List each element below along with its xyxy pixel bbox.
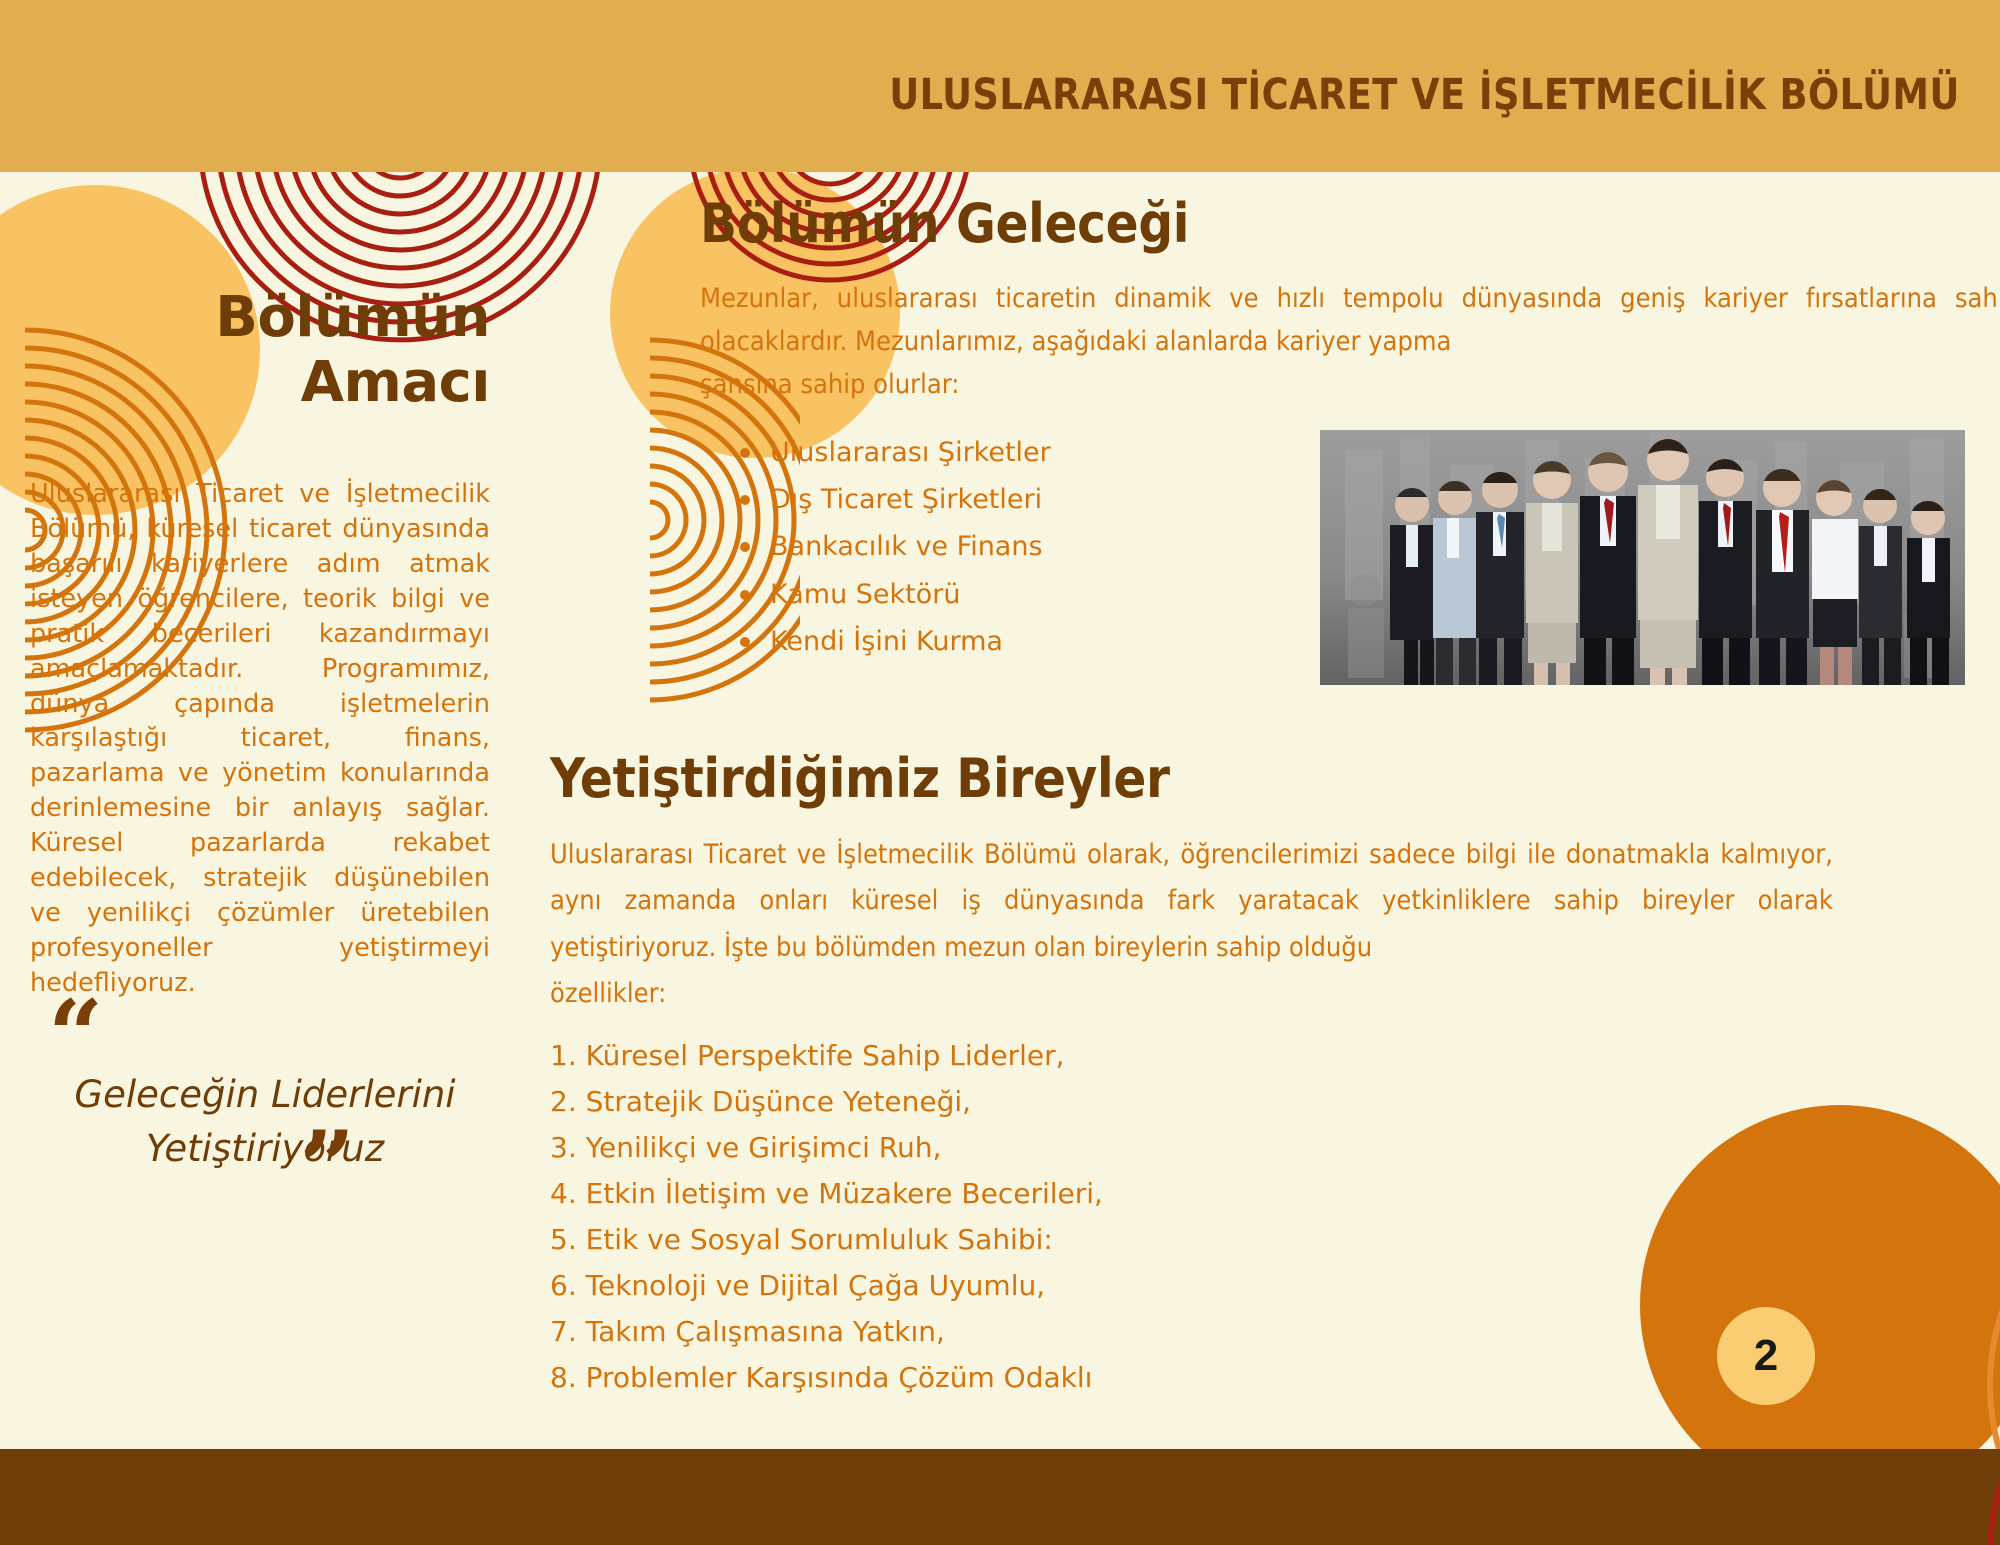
list-item: 8. Problemler Karşısında Çözüm Odaklı — [550, 1364, 1103, 1392]
header-bar: ULUSLARARASI TİCARET VE İŞLETMECİLİK BÖL… — [0, 0, 2000, 172]
page-title: ULUSLARARASI TİCARET VE İŞLETMECİLİK BÖL… — [890, 70, 1960, 120]
section-heading-purpose: Bölümün Amacı — [30, 285, 490, 415]
right-column: Bölümün Geleceği Mezunlar, uluslararası … — [700, 192, 2000, 672]
section-heading-future: Bölümün Geleceği — [700, 192, 2000, 255]
individuals-body-text: Uluslararası Ticaret ve İşletmecilik Böl… — [550, 832, 1833, 1018]
list-item: 6. Teknoloji ve Dijital Çağa Uyumlu, — [550, 1272, 1103, 1300]
list-item: 7. Takım Çalışmasına Yatkın, — [550, 1318, 1103, 1346]
list-item: 2. Stratejik Düşünce Yeteneği, — [550, 1088, 1103, 1116]
business-team-photo — [1320, 430, 1965, 685]
traits-list: 1. Küresel Perspektife Sahip Liderler, 2… — [550, 1042, 1103, 1410]
individuals-body-main: Uluslararası Ticaret ve İşletmecilik Böl… — [550, 839, 1833, 963]
left-column: Bölümün Amacı Uluslararası Ticaret ve İş… — [30, 180, 490, 1001]
future-intro-lastline: şansına sahip olurlar: — [700, 363, 2000, 406]
future-intro-main: Mezunlar, uluslararası ticaretin dinamik… — [700, 283, 2000, 357]
purpose-body-text: Uluslararası Ticaret ve İşletmecilik Böl… — [30, 477, 490, 1001]
individuals-body-lastline: özellikler: — [550, 971, 1833, 1017]
list-item: 3. Yenilikçi ve Girişimci Ruh, — [550, 1134, 1103, 1162]
concentric-arcs-red-bottomright — [1780, 1335, 2000, 1545]
section-heading-individuals: Yetiştirdiğimiz Bireyler — [550, 747, 1170, 810]
footer-bar — [0, 1449, 2000, 1545]
future-intro-text: Mezunlar, uluslararası ticaretin dinamik… — [700, 277, 2000, 407]
pull-quote: “ Geleceğin Liderlerini Yetiştiriyoruz ” — [30, 1010, 500, 1194]
brochure-page: ULUSLARARASI TİCARET VE İŞLETMECİLİK BÖL… — [0, 0, 2000, 1545]
list-item: 5. Etik ve Sosyal Sorumluluk Sahibi: — [550, 1226, 1103, 1254]
quote-open-mark: “ — [48, 1010, 500, 1068]
list-item: 1. Küresel Perspektife Sahip Liderler, — [550, 1042, 1103, 1070]
list-item: 4. Etkin İletişim ve Müzakere Becerileri… — [550, 1180, 1103, 1208]
